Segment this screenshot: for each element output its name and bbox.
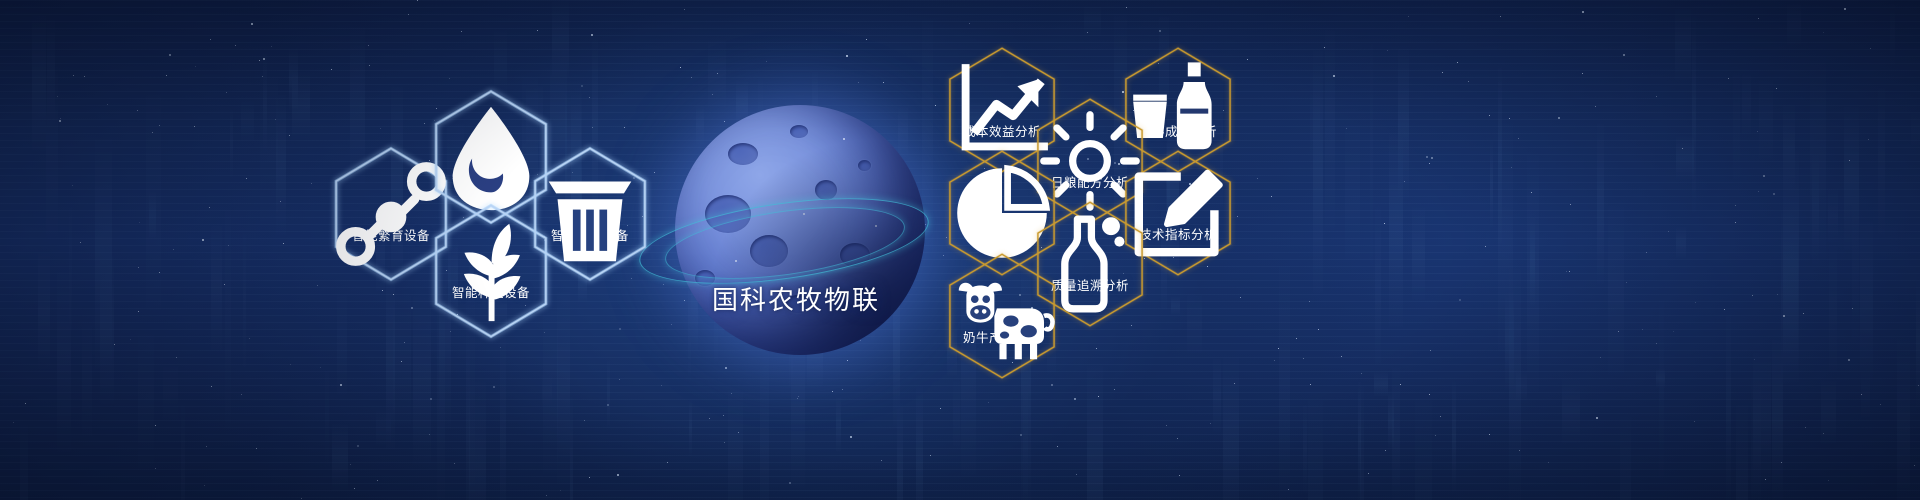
milk-bottle-icon [1073, 234, 1107, 268]
plant-leaf-icon [474, 241, 508, 275]
hex-tile-奶牛产能分析[interactable]: 奶牛产能分析 [946, 252, 1058, 380]
page-title: 国科农牧物联 [712, 280, 880, 317]
cow-icon [985, 286, 1019, 320]
sun-icon [1073, 131, 1107, 165]
node-graph-icon [374, 184, 408, 218]
line-chart-icon [985, 80, 1019, 114]
hex-tile-智能环保设备[interactable]: 智能环保设备 [531, 146, 649, 282]
pie-chart-icon [985, 183, 1019, 217]
bottle-glass-icon [1161, 80, 1195, 114]
edit-pencil-icon [1161, 183, 1195, 217]
trash-bin-icon [573, 184, 607, 218]
water-drop-icon [474, 127, 508, 161]
center-planet-group: 国科农牧物联 [650, 95, 950, 395]
iot-platform-banner: 国科农牧物联 智能繁育设备智能挤奶设备智能种植设备智能环保设备成本效益分析饲料成… [0, 0, 1920, 500]
